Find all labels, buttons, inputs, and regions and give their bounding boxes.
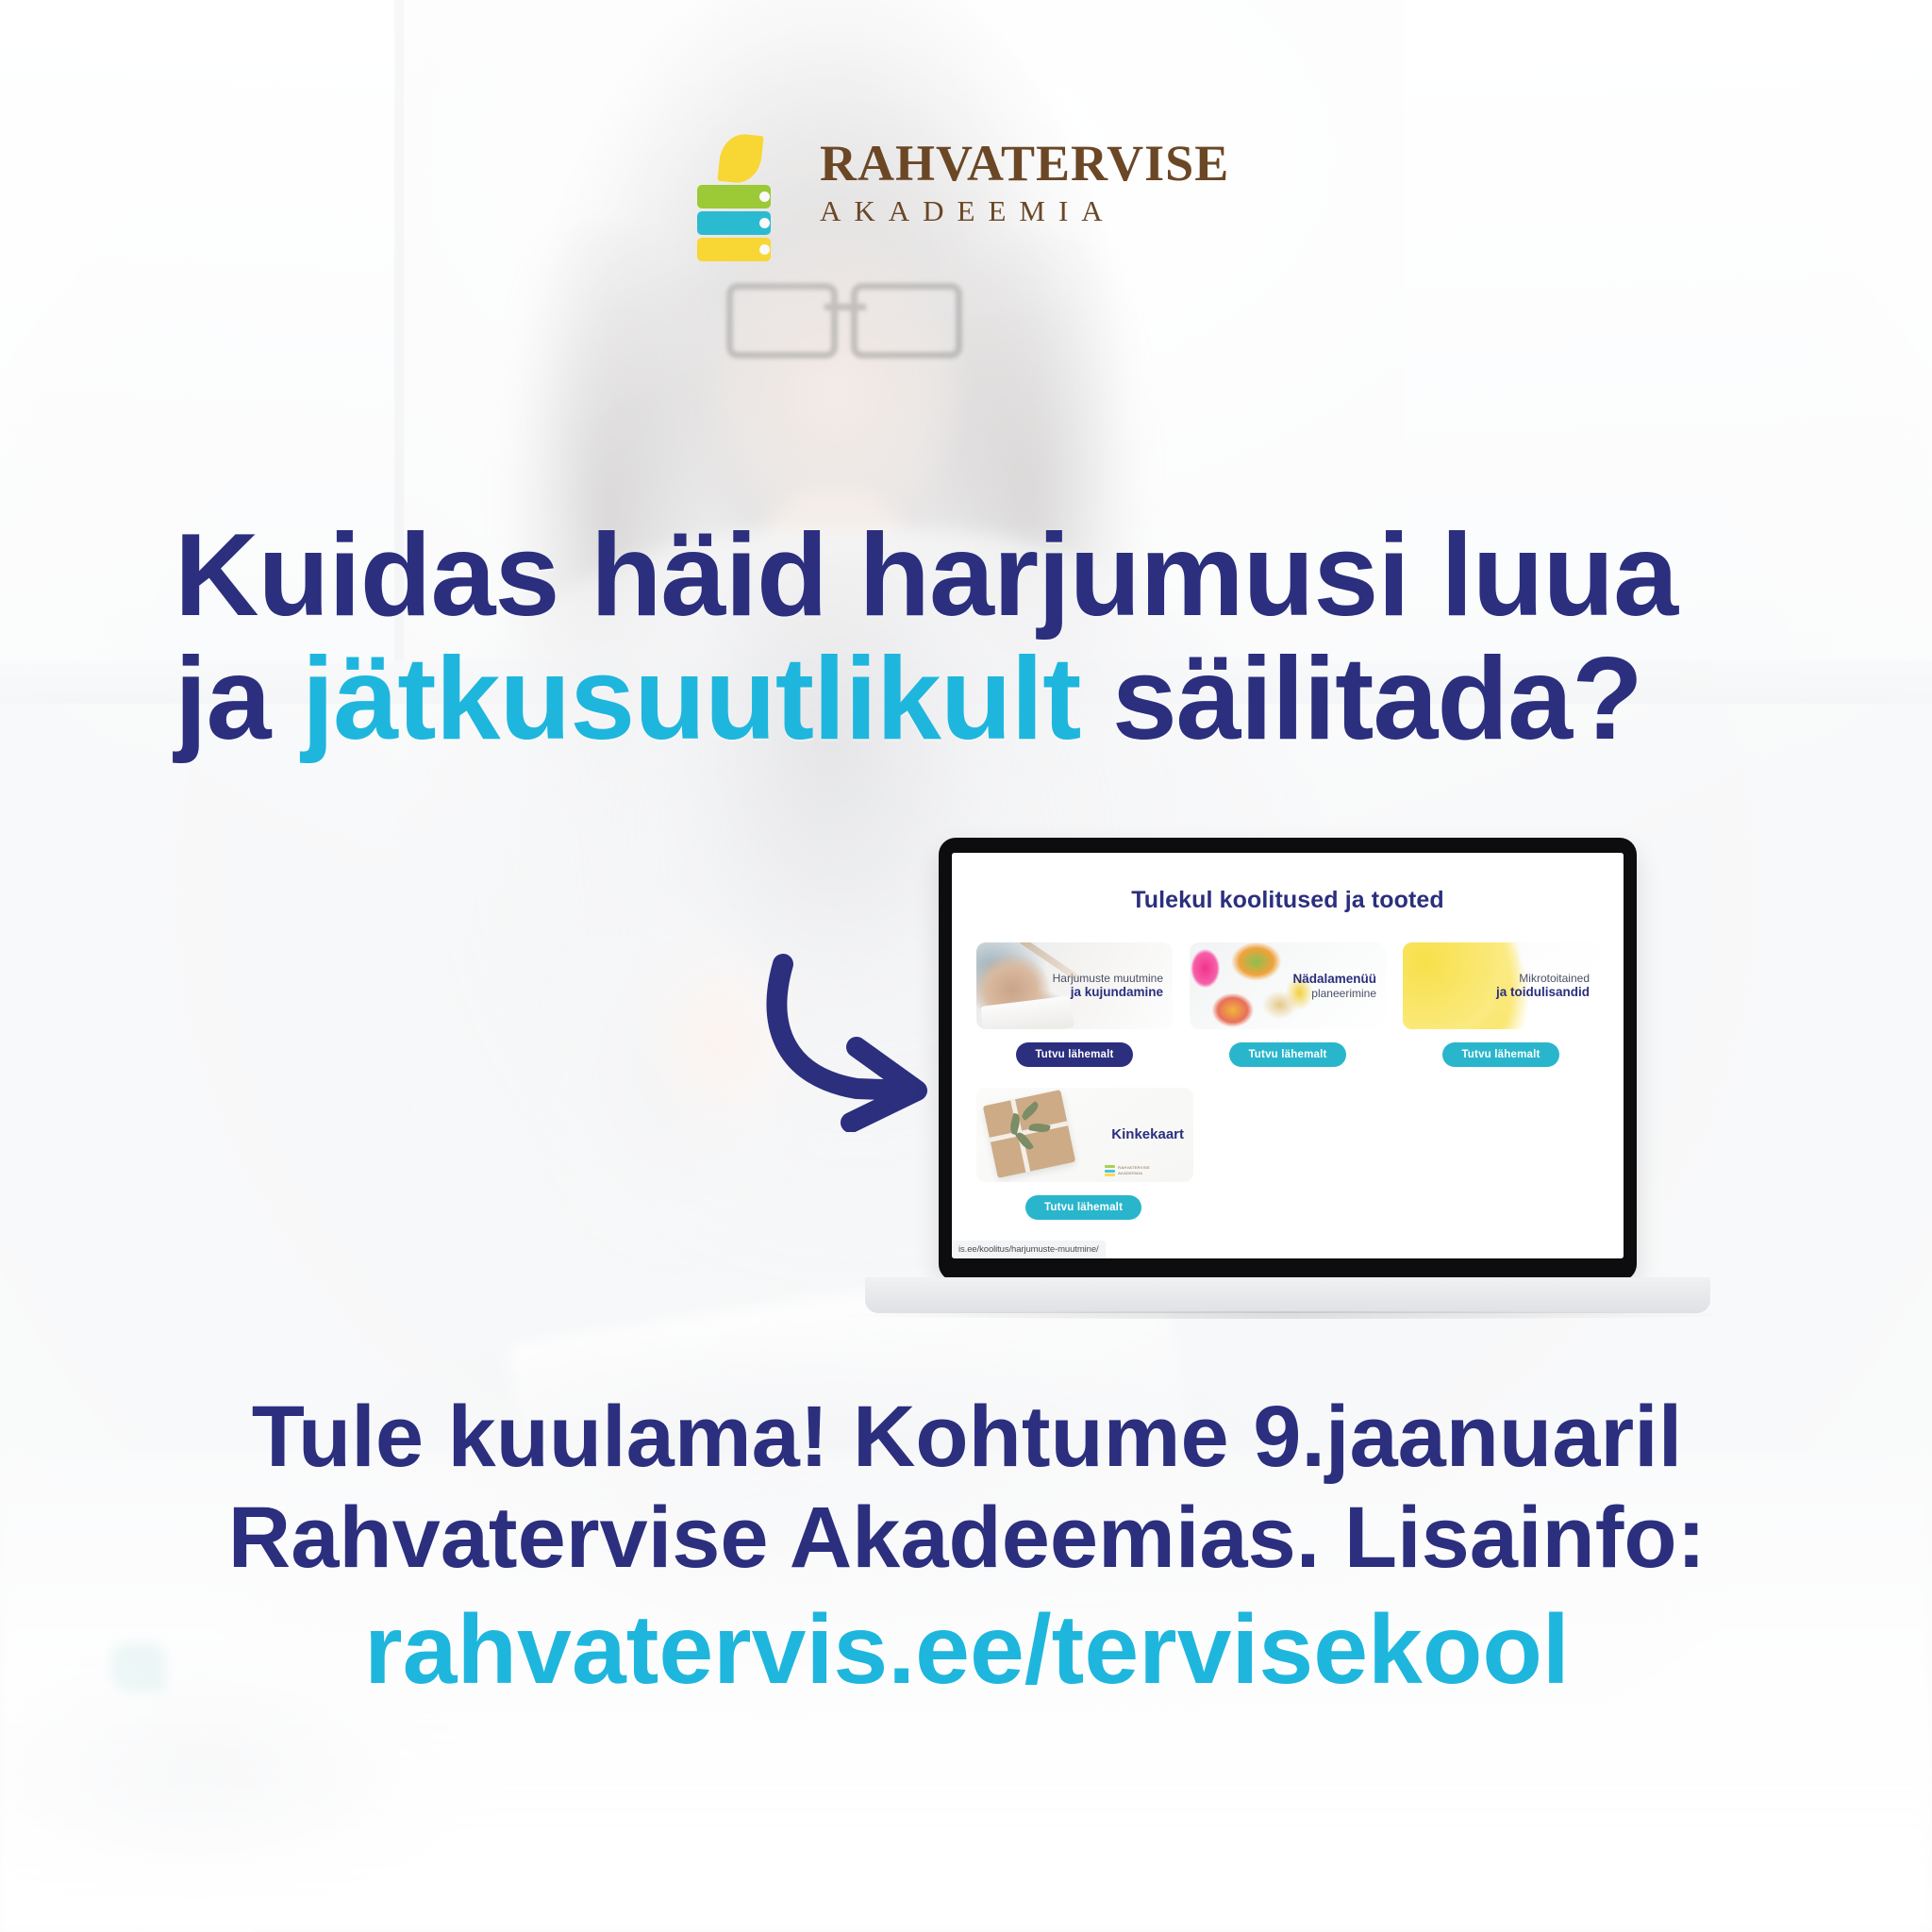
mini-book-yellow-icon bbox=[1105, 1174, 1115, 1176]
caption-bottom: ja toidulisandid bbox=[1496, 985, 1590, 1000]
mini-book-cyan-icon bbox=[1105, 1170, 1115, 1173]
mini-brand-logo: RAHVATERVISE AKADEEMIA bbox=[1105, 1165, 1150, 1176]
gift-card-caption: Kinkekaart bbox=[1111, 1126, 1193, 1143]
product-card-image: Mikrotoitained ja toidulisandid bbox=[1403, 942, 1599, 1029]
product-card-caption: Mikrotoitained ja toidulisandid bbox=[1496, 972, 1599, 1001]
poster-canvas: RAHVATERVISE AKADEEMIA Kuidas häid harju… bbox=[0, 0, 1932, 1932]
tutvu-lahemalt-button[interactable]: Tutvu lähemalt bbox=[1025, 1195, 1141, 1220]
book-yellow-icon bbox=[697, 238, 771, 261]
laptop-base-shadow bbox=[835, 1311, 1740, 1319]
headline-line-2-before: ja bbox=[175, 634, 302, 764]
caption-bottom: ja kujundamine bbox=[1053, 985, 1163, 1000]
headline-accent-word: jätkusuutlikult bbox=[302, 634, 1081, 764]
tutvu-lahemalt-button[interactable]: Tutvu lähemalt bbox=[1016, 1042, 1132, 1067]
logo-subtitle: AKADEEMIA bbox=[820, 193, 1229, 230]
product-card-grid: Harjumuste muutmine ja kujundamine Tutvu… bbox=[976, 942, 1599, 1067]
headline-line-2: ja jätkusuutlikult säilitada? bbox=[175, 638, 1797, 761]
product-card[interactable]: Nädalamenüü planeerimine Tutvu lähemalt bbox=[1190, 942, 1386, 1067]
footer-line-1: Tule kuulama! Kohtume 9.jaanuaril bbox=[113, 1387, 1821, 1488]
mini-book-stack-icon bbox=[1105, 1165, 1115, 1176]
page-title: Tulekul koolitused ja tooted bbox=[976, 887, 1599, 914]
product-card[interactable]: Mikrotoitained ja toidulisandid Tutvu lä… bbox=[1403, 942, 1599, 1067]
caption-bottom: Kinkekaart bbox=[1111, 1126, 1184, 1143]
caption-top: Nädalamenüü bbox=[1292, 972, 1376, 987]
book-green-icon bbox=[697, 185, 771, 208]
flame-leaf-icon bbox=[717, 132, 763, 185]
footer-line-2: Rahvatervise Akadeemias. Lisainfo: bbox=[113, 1488, 1821, 1589]
product-card-caption: Nädalamenüü planeerimine bbox=[1292, 972, 1386, 1001]
logo-wordmark: RAHVATERVISE AKADEEMIA bbox=[820, 138, 1229, 230]
website-page: Tulekul koolitused ja tooted Harjumuste … bbox=[952, 853, 1624, 1258]
gift-card-image: RAHVATERVISE AKADEEMIA Kinkekaart bbox=[976, 1088, 1193, 1182]
mini-logo-text: RAHVATERVISE AKADEEMIA bbox=[1118, 1165, 1150, 1176]
headline-line-1: Kuidas häid harjumusi luua bbox=[175, 514, 1797, 638]
caption-bottom: planeerimine bbox=[1292, 987, 1376, 1000]
product-card-image: Harjumuste muutmine ja kujundamine bbox=[976, 942, 1173, 1029]
headline: Kuidas häid harjumusi luua ja jätkusuutl… bbox=[175, 514, 1797, 762]
gift-card-product[interactable]: RAHVATERVISE AKADEEMIA Kinkekaart Tutvu … bbox=[976, 1088, 1193, 1220]
caption-top: Mikrotoitained bbox=[1496, 972, 1590, 985]
headline-line-2-after: säilitada? bbox=[1080, 634, 1641, 764]
caption-top: Harjumuste muutmine bbox=[1053, 972, 1163, 985]
brand-logo: RAHVATERVISE AKADEEMIA bbox=[693, 132, 1222, 236]
footer-url: rahvatervis.ee/tervisekool bbox=[113, 1593, 1821, 1707]
product-card-caption: Harjumuste muutmine ja kujundamine bbox=[1053, 972, 1173, 1001]
laptop-base bbox=[865, 1277, 1710, 1313]
browser-status-url: is.ee/koolitus/harjumuste-muutmine/ bbox=[952, 1241, 1106, 1258]
tutvu-lahemalt-button[interactable]: Tutvu lähemalt bbox=[1442, 1042, 1558, 1067]
book-cyan-icon bbox=[697, 211, 771, 235]
laptop-lid: Tulekul koolitused ja tooted Harjumuste … bbox=[939, 838, 1637, 1281]
gift-ribbon bbox=[983, 1090, 1075, 1178]
laptop-mockup: Tulekul koolitused ja tooted Harjumuste … bbox=[939, 838, 1637, 1319]
book-stack-icon bbox=[693, 132, 774, 236]
tutvu-lahemalt-button[interactable]: Tutvu lähemalt bbox=[1229, 1042, 1345, 1067]
product-card-image: Nädalamenüü planeerimine bbox=[1190, 942, 1386, 1029]
mini-logo-subtitle: AKADEEMIA bbox=[1118, 1171, 1150, 1176]
logo-title: RAHVATERVISE bbox=[820, 138, 1229, 190]
product-card[interactable]: Harjumuste muutmine ja kujundamine Tutvu… bbox=[976, 942, 1173, 1067]
laptop-screen: Tulekul koolitused ja tooted Harjumuste … bbox=[952, 853, 1624, 1258]
footer-text: Tule kuulama! Kohtume 9.jaanuaril Rahvat… bbox=[113, 1387, 1821, 1707]
mini-book-green-icon bbox=[1105, 1165, 1115, 1168]
